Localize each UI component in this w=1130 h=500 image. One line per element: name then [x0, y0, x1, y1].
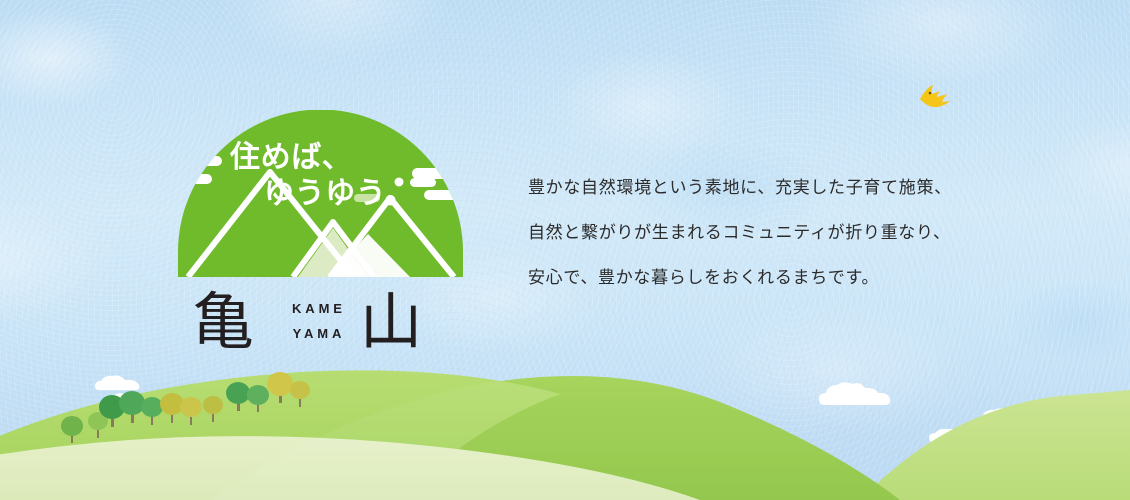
- dome-cloud-left-2: [178, 174, 212, 184]
- tree: [226, 382, 250, 411]
- tree: [180, 397, 202, 425]
- dome-dash-2: [240, 115, 253, 124]
- lead-copy: 豊かな自然環境という素地に、充実した子育て施策、 自然と繋がりが生まれるコミュニ…: [528, 166, 998, 301]
- dome-cloud-right-1: [412, 168, 458, 179]
- wordmark-kanji-yama: 山: [360, 288, 422, 356]
- hero-banner: 住めば、 ゆうゆう。 亀 KAME YAMA 山 豊かな自然環境という素地に、充…: [0, 0, 1130, 500]
- tree: [267, 372, 293, 403]
- dome-dot-2: [410, 178, 436, 187]
- lead-line-1: 豊かな自然環境という素地に、充実した子育て施策、: [528, 166, 998, 211]
- tree: [247, 385, 269, 412]
- wordmark-kanji-kame: 亀: [192, 288, 254, 356]
- tree: [61, 416, 83, 443]
- tree: [203, 396, 223, 422]
- tree-row: [0, 370, 420, 460]
- tree: [141, 397, 163, 425]
- hill-right: [860, 390, 1130, 500]
- lead-line-2: 自然と繋がりが生まれるコミュニティが折り重なり、: [528, 211, 998, 256]
- romaji-line-2: YAMA: [280, 321, 354, 346]
- dome-cloud-accent: [354, 194, 380, 202]
- dome-dash-1: [222, 119, 237, 129]
- logo-wordmark: 亀 KAME YAMA 山: [170, 288, 470, 360]
- kameyama-logo[interactable]: 住めば、 ゆうゆう。 亀 KAME YAMA 山: [170, 110, 470, 360]
- dome-dot-1: [395, 178, 404, 187]
- logo-dome: 住めば、 ゆうゆう。: [178, 110, 463, 277]
- lead-line-3: 安心で、豊かな暮らしをおくれるまちです。: [528, 256, 998, 301]
- romaji-line-1: KAME: [280, 296, 354, 321]
- dome-cloud-right-2: [424, 190, 462, 200]
- tree: [290, 381, 310, 407]
- wordmark-romaji: KAME YAMA: [280, 296, 354, 346]
- dome-cloud-left-1: [180, 156, 222, 166]
